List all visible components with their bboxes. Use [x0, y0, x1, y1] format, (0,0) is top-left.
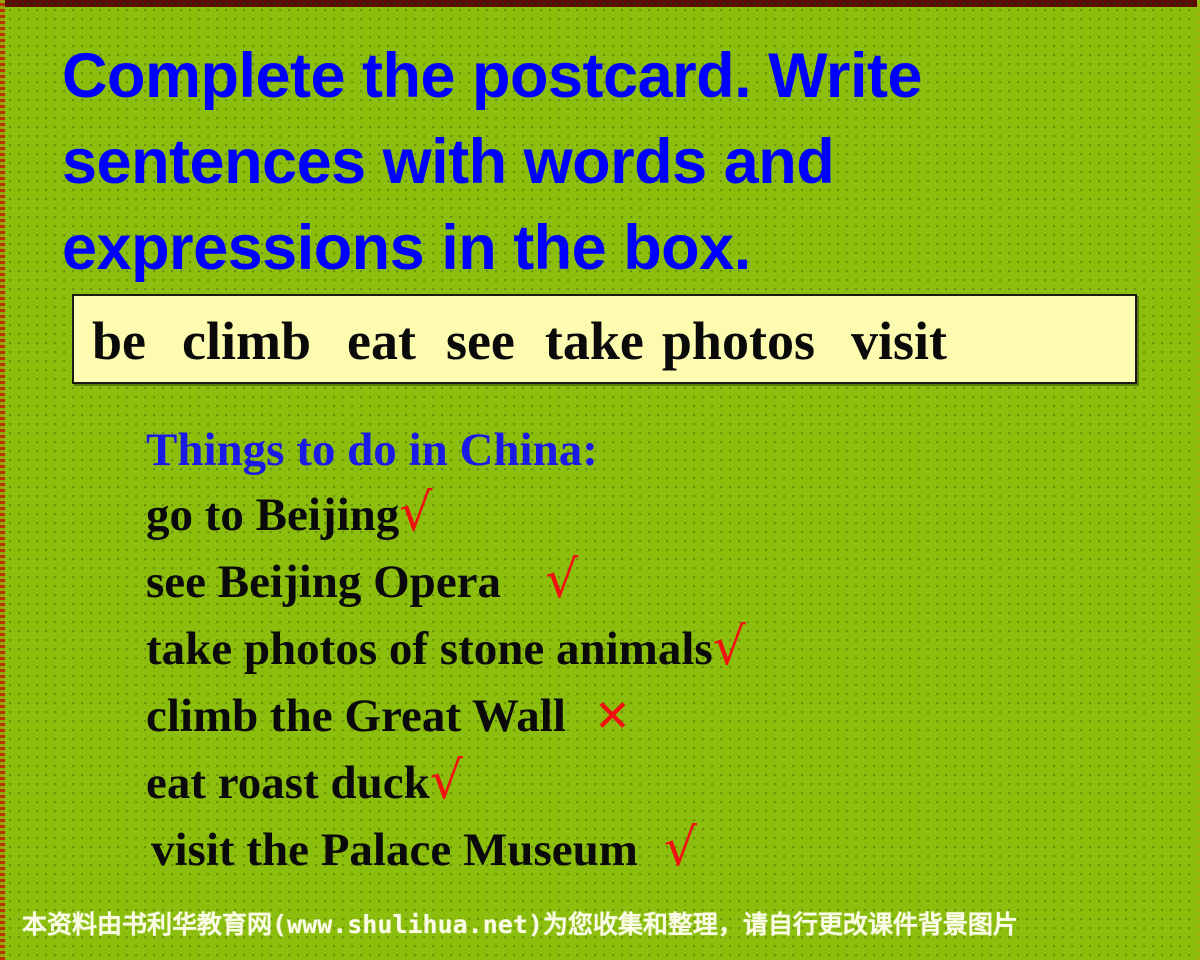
check-mark-icon: √: [430, 755, 463, 807]
things-to-do-section: Things to do in China: go to Beijing √ s…: [146, 418, 1046, 884]
check-mark-icon: √: [399, 487, 432, 539]
task-label-see-beijing-opera: see Beijing Opera: [146, 549, 501, 616]
slide-frame-left-border: [0, 0, 5, 960]
task-row: climb the Great Wall ✕: [146, 683, 1046, 750]
word-bank-item-climb: climb: [182, 311, 311, 371]
word-bank-item-be: be: [92, 311, 146, 371]
task-label-go-to-beijing: go to Beijing: [146, 482, 399, 549]
task-row: take photos of stone animals √: [146, 616, 1046, 683]
task-row: visit the Palace Museum √: [146, 817, 1046, 884]
word-bank-item-take: take: [545, 311, 644, 371]
check-mark-icon: √: [713, 621, 746, 673]
cross-mark-icon: ✕: [594, 695, 631, 739]
task-row: see Beijing Opera √: [146, 549, 1046, 616]
check-mark-icon: √: [664, 822, 697, 874]
footer-watermark-text: 本资料由书利华教育网(www.shulihua.net)为您收集和整理，请自行更…: [22, 905, 1187, 945]
task-label-eat-roast-duck: eat roast duck: [146, 750, 430, 817]
word-bank-item-photos: photos: [662, 311, 815, 371]
word-bank-list: be climb eat see take photos visit: [92, 304, 1125, 378]
check-mark-icon: √: [545, 554, 578, 606]
slide-canvas: Complete the postcard. Write sentences w…: [0, 0, 1200, 960]
word-bank-item-visit: visit: [851, 311, 947, 371]
page-title: Complete the postcard. Write sentences w…: [62, 33, 1122, 291]
task-row: eat roast duck √: [146, 750, 1046, 817]
slide-frame-top-border: [0, 0, 1200, 7]
word-bank-item-eat: eat: [347, 311, 416, 371]
task-label-take-photos-of-stone-animals: take photos of stone animals: [146, 616, 713, 683]
task-row: go to Beijing √: [146, 482, 1046, 549]
things-to-do-heading: Things to do in China:: [146, 418, 1046, 482]
word-bank-box: be climb eat see take photos visit: [72, 294, 1137, 384]
word-bank-item-see: see: [446, 311, 515, 371]
task-label-visit-the-palace-museum: visit the Palace Museum: [151, 817, 638, 884]
task-label-climb-the-great-wall: climb the Great Wall: [146, 683, 566, 750]
